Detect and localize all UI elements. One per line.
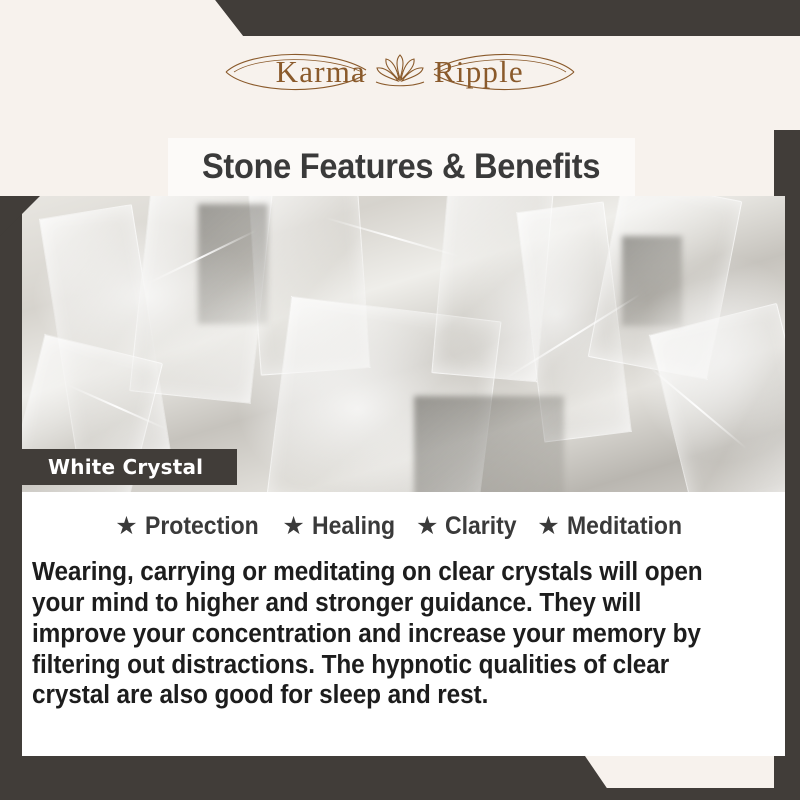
benefit-label: Meditation <box>567 512 682 541</box>
star-icon: ★ <box>416 514 438 539</box>
description-text: Wearing, carrying or meditating on clear… <box>32 557 740 711</box>
benefit-label: Clarity <box>445 512 517 541</box>
stone-name-badge: White Crystal <box>22 449 237 485</box>
star-icon: ★ <box>537 514 559 539</box>
page-title: Stone Features & Benefits <box>168 138 635 196</box>
benefit-item-meditation: ★ Meditation <box>537 512 691 541</box>
brand-logo-svg: Karma Ripple <box>190 44 610 100</box>
benefits-list: ★ Protection ★ Healing ★ Clarity ★ Medit… <box>22 512 785 541</box>
benefit-label: Healing <box>312 512 395 541</box>
star-icon: ★ <box>115 514 137 539</box>
crystal-photo <box>22 196 785 492</box>
brand-logo: Karma Ripple <box>0 44 800 100</box>
page-title-text: Stone Features & Benefits <box>202 147 600 187</box>
lotus-icon <box>376 55 424 86</box>
frame-bottom-edge <box>0 788 800 800</box>
benefit-item-protection: ★ Protection <box>115 512 268 541</box>
benefit-item-healing: ★ Healing <box>282 512 402 541</box>
infographic-card: Karma Ripple Stone Features & Benefits W… <box>0 0 800 800</box>
content-panel: ★ Protection ★ Healing ★ Clarity ★ Medit… <box>22 492 785 756</box>
brand-name-right: Ripple <box>434 54 524 89</box>
brand-name-left: Karma <box>276 54 366 89</box>
benefit-item-clarity: ★ Clarity <box>416 512 523 541</box>
stone-name-text: White Crystal <box>48 455 203 479</box>
star-icon: ★ <box>282 514 304 539</box>
benefit-label: Protection <box>145 512 259 541</box>
